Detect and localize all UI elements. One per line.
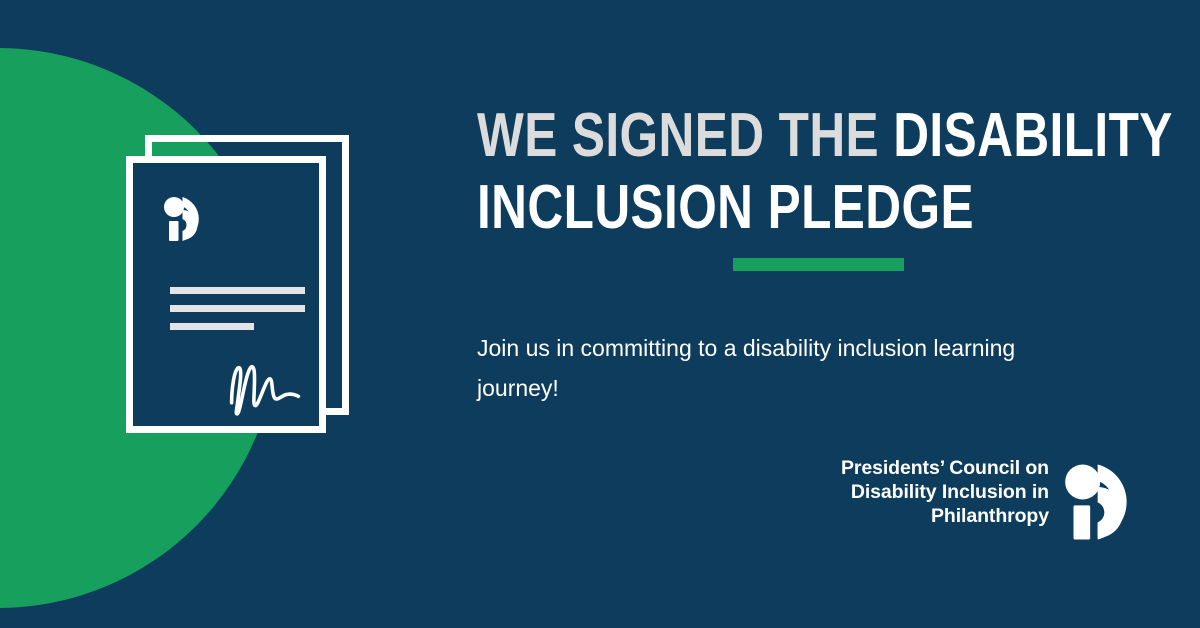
headline-bright-text: DISABILITY bbox=[893, 101, 1173, 170]
brand-lockup: Presidents’ Council on Disability Inclus… bbox=[841, 456, 1049, 528]
document-text-line bbox=[170, 305, 305, 312]
document-text-line bbox=[170, 287, 305, 294]
document-text-line bbox=[170, 323, 254, 330]
pledge-announcement-graphic: WE SIGNED THE DISABILITY INCLUSION PLEDG… bbox=[0, 0, 1200, 628]
content-column: WE SIGNED THE DISABILITY INCLUSION PLEDG… bbox=[477, 0, 1157, 628]
handwritten-signature-icon bbox=[225, 355, 305, 417]
pcdip-logo-mark-icon bbox=[1057, 462, 1145, 542]
document-front-page bbox=[126, 156, 326, 433]
signed-pledge-document-illustration bbox=[119, 135, 359, 440]
headline-line-2: INCLUSION PLEDGE bbox=[477, 172, 1173, 244]
headline-dim-text: WE SIGNED THE bbox=[477, 101, 893, 170]
brand-line-3: Philanthropy bbox=[841, 504, 1049, 528]
green-divider-rule bbox=[733, 258, 904, 271]
page-title: WE SIGNED THE DISABILITY INCLUSION PLEDG… bbox=[477, 100, 1173, 244]
headline-line-1: WE SIGNED THE DISABILITY bbox=[477, 100, 1173, 172]
brand-line-2: Disability Inclusion in bbox=[841, 480, 1049, 504]
brand-line-1: Presidents’ Council on bbox=[841, 456, 1049, 480]
subtitle-text: Join us in committing to a disability in… bbox=[477, 328, 1097, 408]
document-text-lines bbox=[170, 287, 305, 341]
pcdip-logo-mark-small-icon bbox=[160, 195, 210, 243]
brand-name-text: Presidents’ Council on Disability Inclus… bbox=[841, 456, 1049, 528]
